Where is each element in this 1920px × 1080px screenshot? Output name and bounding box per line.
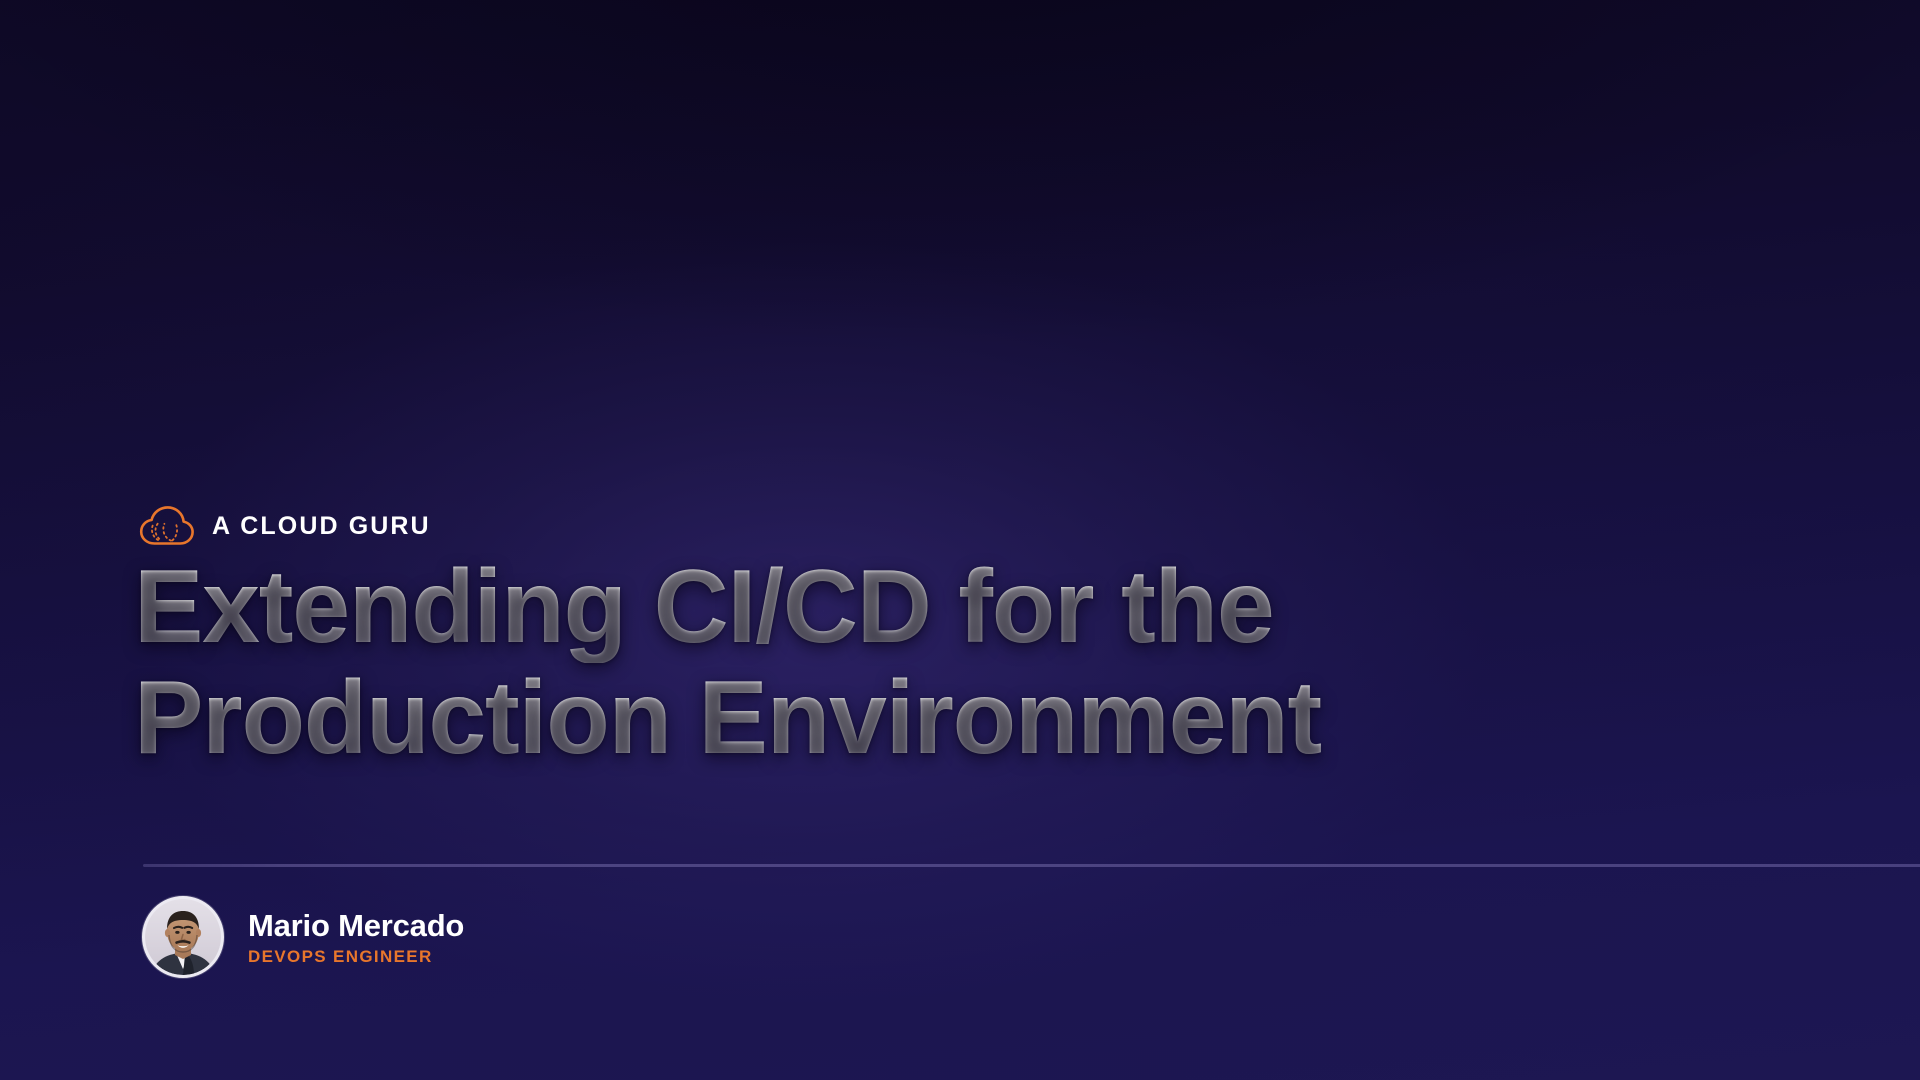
brand-lockup: A CLOUD GURU	[138, 503, 431, 549]
title-slide: A CLOUD GURU Extending CI/CD for the Pro…	[0, 0, 1920, 1080]
presenter-block: Mario Mercado DEVOPS ENGINEER	[142, 896, 464, 978]
presenter-name: Mario Mercado	[248, 910, 464, 943]
brand-name: A CLOUD GURU	[212, 514, 431, 539]
page-title: Extending CI/CD for the Production Envir…	[134, 552, 1774, 775]
page-title-line-1: Extending CI/CD for the	[134, 552, 1774, 663]
divider	[143, 864, 1920, 867]
avatar	[142, 896, 224, 978]
cloud-outline-icon	[138, 505, 195, 547]
slide-content: A CLOUD GURU Extending CI/CD for the Pro…	[138, 0, 1838, 1080]
page-title-line-2: Production Environment	[134, 663, 1774, 774]
presenter-text: Mario Mercado DEVOPS ENGINEER	[248, 908, 464, 966]
presenter-role: DEVOPS ENGINEER	[248, 948, 464, 966]
